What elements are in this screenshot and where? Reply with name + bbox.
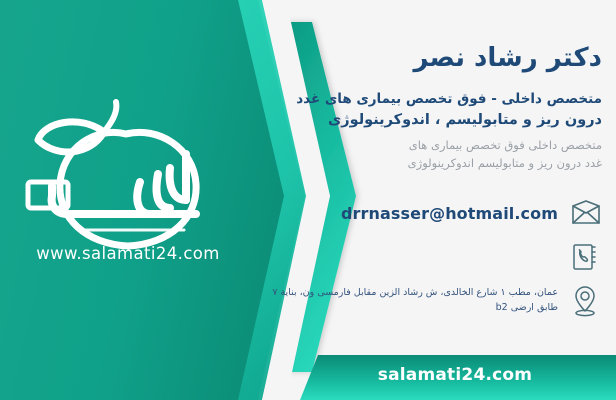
address-line-1: عمان، مطب ۱ شارع الخالدی، ش رشاد الزین م…	[250, 286, 558, 301]
address-block[interactable]: عمان، مطب ۱ شارع الخالدی، ش رشاد الزین م…	[250, 286, 558, 315]
location-pin-icon	[568, 284, 602, 318]
email-address[interactable]: drrnasser@hotmail.com	[250, 204, 558, 223]
address-line-2: طابق ارضی b2	[250, 301, 558, 316]
card-content: دکتر رشاد نصر متخصص داخلی - فوق تخصص بیم…	[250, 0, 602, 400]
contact-list: drrnasser@hotmail.com	[250, 196, 602, 328]
logo-website-url: www.salamati24.com	[8, 244, 248, 263]
specialty-sub-line-1: متخصص داخلی فوق تخصص بیماری های	[250, 136, 602, 154]
business-card: www.salamati24.com دکتر رشاد نصر متخصص د…	[0, 0, 616, 400]
specialty-sub-line-2: غدد درون ریز و متابولیسم اندوکرینولوژی	[250, 154, 602, 172]
contact-row-address[interactable]: عمان، مطب ۱ شارع الخالدی، ش رشاد الزین م…	[250, 284, 602, 318]
footer-website[interactable]: salamati24.com	[320, 365, 590, 385]
envelope-icon	[568, 196, 602, 230]
footer-bar: salamati24.com	[0, 355, 616, 400]
salamati24-logo: www.salamati24.com	[8, 96, 248, 296]
contact-row-phone[interactable]	[250, 240, 602, 274]
contact-row-email[interactable]: drrnasser@hotmail.com	[250, 196, 602, 230]
specialty-line-secondary: درون ریز و متابولیسم ، اندوکرینولوژی	[250, 109, 602, 131]
doctor-name: دکتر رشاد نصر	[250, 42, 602, 75]
phonebook-icon	[568, 240, 602, 274]
specialty-line-primary: متخصص داخلی - فوق تخصص بیماری های غدد	[250, 89, 602, 110]
